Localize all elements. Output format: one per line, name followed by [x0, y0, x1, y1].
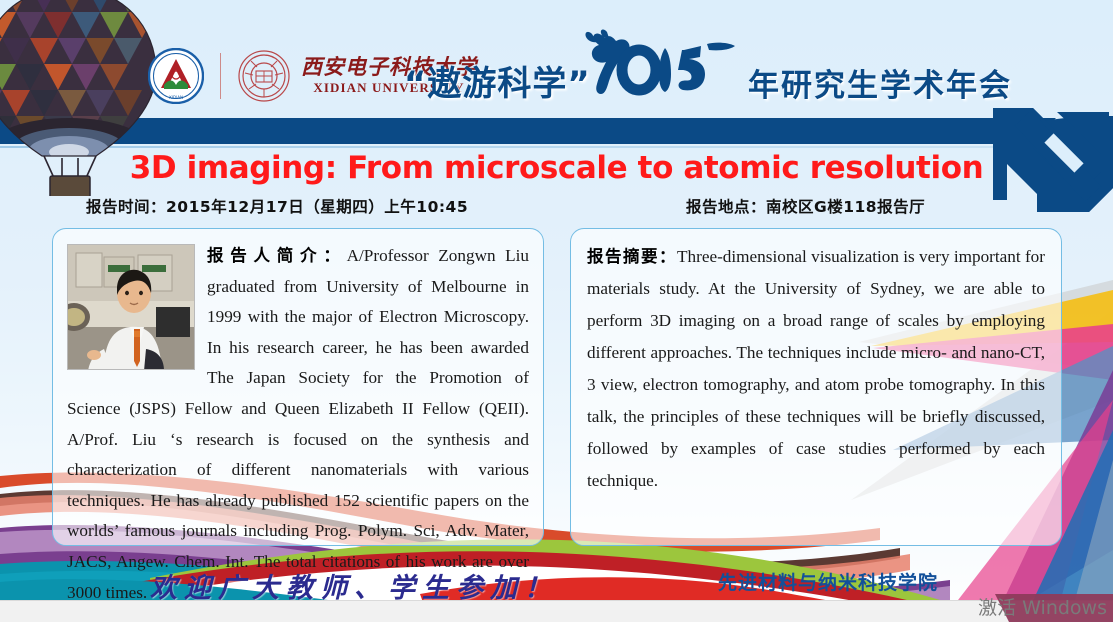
goat-calligraphy-2015-logo-icon [583, 28, 743, 108]
abstract-panel: 报告摘要：Three-dimensional visualization is … [570, 228, 1062, 546]
header-underline [0, 146, 1113, 148]
speaker-bio-label: 报告人简介： [207, 246, 347, 265]
university-anniversary-emblem-icon: XIDIAN [148, 48, 204, 104]
svg-text:XIDIAN: XIDIAN [169, 95, 183, 100]
page-title: 3D imaging: From microscale to atomic re… [0, 150, 1113, 186]
talk-location: 报告地点：南校区G楼118报告厅 [686, 195, 925, 217]
logo-divider [220, 53, 221, 99]
abstract-label: 报告摘要： [587, 247, 677, 266]
abstract-body: Three-dimensional visualization is very … [587, 247, 1045, 490]
speaker-bio-panel: 报告人简介：A/Professor Zongwn Liu graduated f… [52, 228, 544, 546]
bottom-strip [0, 600, 1113, 622]
xidian-university-seal-icon [237, 49, 291, 103]
organizing-school: 先进材料与纳米科技学院 [718, 568, 938, 595]
talk-time: 报告时间：2015年12月17日（星期四）上午10:45 [86, 195, 468, 217]
slogan-title: “遨游科学” [404, 56, 591, 105]
abstract-text: 报告摘要：Three-dimensional visualization is … [587, 241, 1045, 497]
poster-canvas: XIDIAN 西安电子科技大学 XIDIAN UNIVERSITY “遨游科学” [0, 0, 1113, 622]
windows-activation-watermark: 激活 Windows [978, 593, 1107, 620]
speaker-portrait-photo-icon [67, 244, 195, 370]
conference-title: 年研究生学术年会 [748, 60, 1012, 105]
